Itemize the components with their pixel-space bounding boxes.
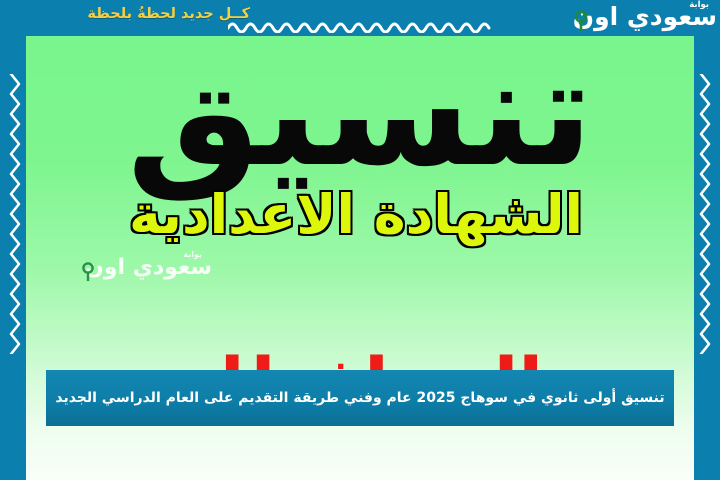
site-logo[interactable]: بوابة سعودي اون — [495, 1, 717, 35]
watermark-brand-text: سعودي اون — [85, 257, 212, 279]
zigzag-line-icon-right — [699, 74, 711, 354]
logo-brand-text: سعودي اون — [573, 4, 717, 29]
headline-secondary: الشهادة الاعدادية — [66, 188, 646, 242]
caption-banner: تنسيق أولى ثانوي في سوهاج 2025 عام وفني … — [46, 370, 674, 426]
magnifier-icon — [81, 262, 96, 282]
thumbnail-canvas: تنسيق الشهادة الاعدادية بالمحافظات بوابة… — [0, 0, 720, 480]
watermark-logo: بوابة سعودي اون — [40, 250, 212, 290]
caption-text: تنسيق أولى ثانوي في سوهاج 2025 عام وفني … — [41, 389, 678, 407]
magnifier-icon — [573, 10, 590, 32]
site-header-bar: كــل جديد لحظةُ بلحظة بوابة سعودي اون — [0, 0, 720, 36]
wavy-divider-icon — [228, 18, 494, 32]
zigzag-line-icon-left — [9, 74, 21, 354]
headline-primary: تنسيق — [50, 44, 670, 182]
header-tagline: كــل جديد لحظةُ بلحظة — [87, 6, 250, 22]
